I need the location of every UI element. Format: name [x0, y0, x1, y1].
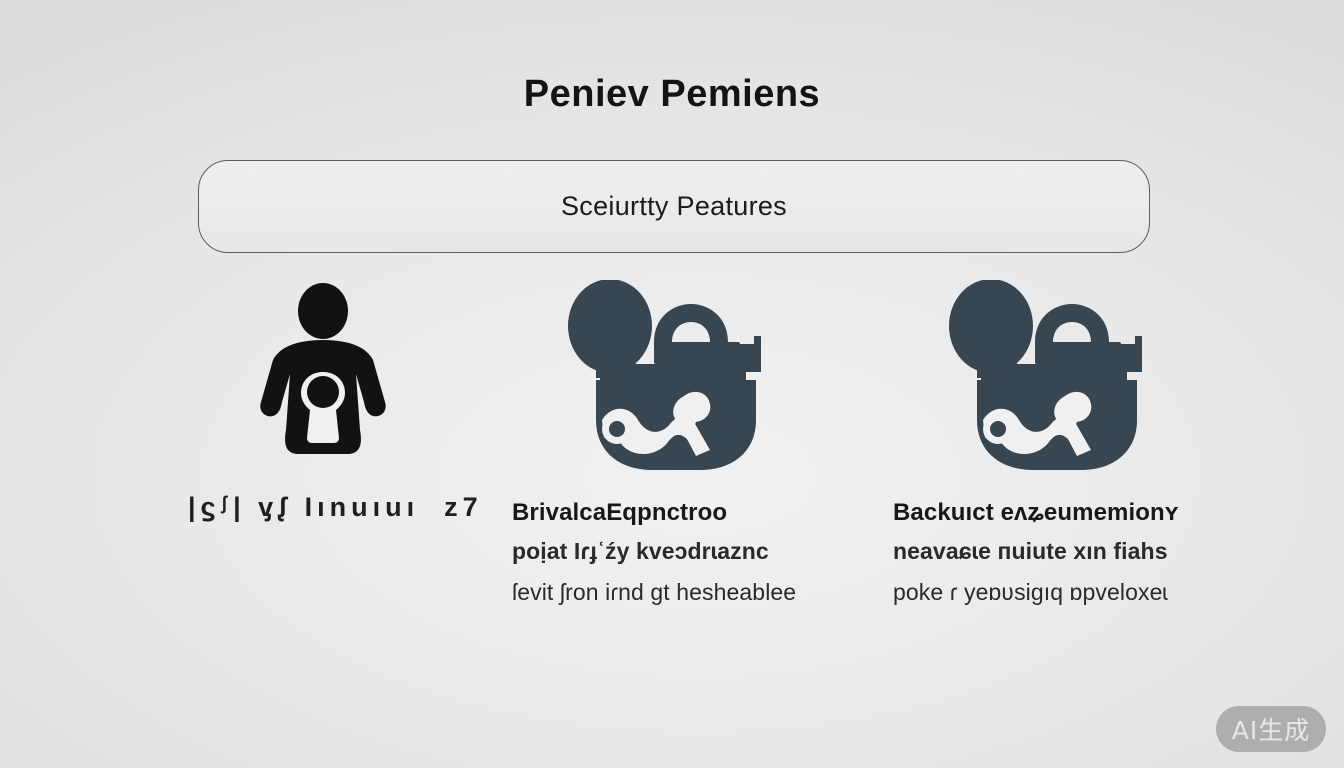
ai-watermark-badge: AI生成: [1216, 706, 1326, 752]
feature-columns: |ϛᶴ| ᶌᶘ Ɩınuıuı ᴢ7: [0, 280, 1344, 680]
feature-column-2[interactable]: BrivalcaEqpnctroo poịat Ɩɾɟʿźy kveɔdrɩaz…: [512, 280, 872, 480]
feature-icon-2-wrap: [560, 280, 790, 480]
feature-line-2-1: poịat Ɩɾɟʿźy kveɔdrɩaznc: [512, 534, 872, 569]
feature-line-3-2: poke ɾ yeɒʋsigıq ɒpveloxeɩ: [893, 575, 1253, 610]
feature-column-1[interactable]: |ϛᶴ| ᶌᶘ Ɩınuıuı ᴢ7: [188, 280, 458, 480]
page-root: Peniev Pemiens Sceiurtty Peatures |ϛᶴ| ᶌ…: [0, 0, 1344, 768]
page-title: Peniev Pemiens: [0, 74, 1344, 116]
feature-column-3[interactable]: Backuıct eʌʑeumemionʏ neavaɕɩe ᴨuiute xı…: [893, 280, 1253, 480]
feature-heading-3: Backuıct eʌʑeumemionʏ: [893, 498, 1253, 528]
feature-icon-1-wrap: [188, 280, 458, 480]
feature-icon-3-wrap: [941, 280, 1171, 480]
feature-line-2-2: ſevit ʃron iɾnd gt hesheablee: [512, 575, 872, 610]
ai-watermark-label: AI生成: [1232, 711, 1310, 747]
feature-text-2: BrivalcaEqpnctroo poịat Ɩɾɟʿźy kveɔdrɩaz…: [512, 498, 872, 609]
feature-bar[interactable]: Sceiurtty Peatures: [198, 160, 1150, 253]
feature-heading-2: BrivalcaEqpnctroo: [512, 498, 872, 528]
feature-text-1: |ϛᶴ| ᶌᶘ Ɩınuıuı ᴢ7: [188, 492, 458, 523]
feature-heading-1: |ϛᶴ| ᶌᶘ Ɩınuıuı ᴢ7: [188, 492, 458, 523]
feature-line-3-1: neavaɕɩe ᴨuiute xın fiahs: [893, 534, 1253, 569]
lock-blob-icon: [560, 280, 775, 475]
person-lock-icon: [243, 280, 403, 470]
feature-bar-label: Sceiurtty Peatures: [561, 191, 787, 222]
feature-text-3: Backuıct eʌʑeumemionʏ neavaɕɩe ᴨuiute xı…: [893, 498, 1253, 609]
lock-blob-icon: [941, 280, 1156, 475]
